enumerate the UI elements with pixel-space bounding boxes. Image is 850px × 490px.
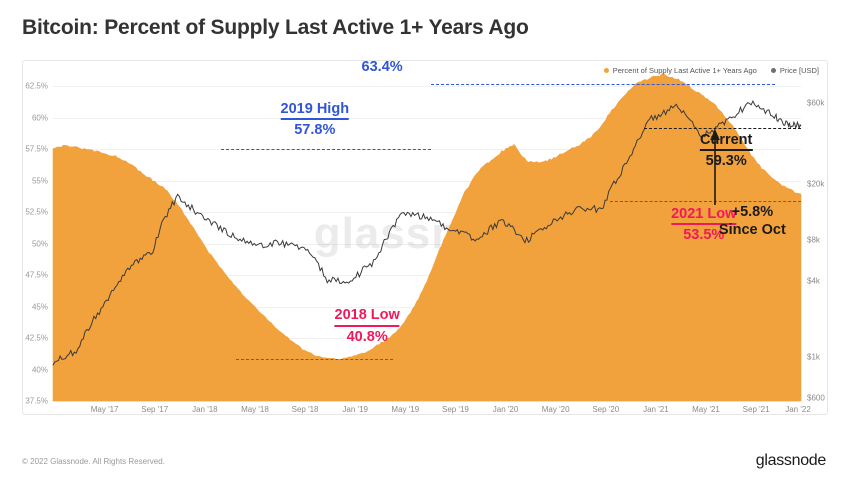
legend-item-supply[interactable]: Percent of Supply Last Active 1+ Years A… xyxy=(604,66,757,75)
y-tick-label: 37.5% xyxy=(25,397,48,406)
chart-page: Bitcoin: Percent of Supply Last Active 1… xyxy=(0,0,850,490)
x-tick-label: May '21 xyxy=(692,405,720,414)
chart-panel: Percent of Supply Last Active 1+ Years A… xyxy=(22,60,828,415)
y2-tick-label: $1k xyxy=(807,352,820,361)
plot-area: 62.5% 60% 57.5% 55% 52.5% 50% 47.5% 45% … xyxy=(53,86,801,401)
x-tick-label: Jan '19 xyxy=(342,405,368,414)
annotation-2019-high: 2019 High 57.8% xyxy=(281,101,350,138)
legend-item-price[interactable]: Price [USD] xyxy=(771,66,819,75)
annotation-line-current xyxy=(644,128,801,129)
annotation-change-arrow-icon xyxy=(708,129,722,201)
annotation-line-2018-low xyxy=(236,359,393,360)
annotation-change-value: Since Oct xyxy=(719,223,786,238)
x-tick-label: Jan '22 xyxy=(785,405,811,414)
footer-logo: glassnode xyxy=(756,452,826,470)
y-tick-label: 47.5% xyxy=(25,271,48,280)
annotation-2018-low: 2018 Low 40.8% xyxy=(335,307,400,344)
x-tick-label: May '17 xyxy=(91,405,119,414)
x-tick-label: Jan '18 xyxy=(192,405,218,414)
y2-tick-label: $8k xyxy=(807,236,820,245)
y-tick-label: 40% xyxy=(32,365,48,374)
annotation-2019-high-value: 57.8% xyxy=(281,123,350,138)
annotation-line-2020-high xyxy=(431,84,775,85)
annotation-line-2021-low xyxy=(610,201,801,202)
x-tick-label: Sep '21 xyxy=(743,405,770,414)
y-tick-label: 62.5% xyxy=(25,82,48,91)
annotation-2020-high-value: 63.4% xyxy=(348,60,417,75)
x-tick-label: May '20 xyxy=(542,405,570,414)
legend-label-price: Price [USD] xyxy=(780,66,819,75)
y2-tick-label: $600 xyxy=(807,393,825,402)
x-tick-label: Sep '19 xyxy=(442,405,469,414)
x-tick-label: Sep '20 xyxy=(592,405,619,414)
x-tick-label: Sep '17 xyxy=(141,405,168,414)
annotation-line-2019-high xyxy=(221,149,430,150)
series-canvas xyxy=(53,86,801,401)
footer-copyright: © 2022 Glassnode. All Rights Reserved. xyxy=(22,457,165,466)
annotation-2020-high: 2020 High 63.4% xyxy=(348,60,417,75)
legend-marker-price-icon xyxy=(771,68,776,73)
legend-marker-supply-icon xyxy=(604,68,609,73)
chart-legend: Percent of Supply Last Active 1+ Years A… xyxy=(604,66,819,75)
x-tick-label: Jan '21 xyxy=(643,405,669,414)
annotation-change: +5.8% Since Oct xyxy=(719,205,786,238)
y-tick-label: 50% xyxy=(32,239,48,248)
annotation-2019-high-title: 2019 High xyxy=(281,102,350,120)
x-tick-label: Sep '18 xyxy=(292,405,319,414)
x-tick-label: May '18 xyxy=(241,405,269,414)
x-tick-label: Jan '20 xyxy=(493,405,519,414)
y-tick-label: 42.5% xyxy=(25,334,48,343)
y-tick-label: 45% xyxy=(32,302,48,311)
annotation-2018-low-title: 2018 Low xyxy=(335,308,400,326)
y-tick-label: 60% xyxy=(32,113,48,122)
annotation-2018-low-value: 40.8% xyxy=(335,330,400,345)
annotation-change-title: +5.8% xyxy=(719,205,786,220)
page-title: Bitcoin: Percent of Supply Last Active 1… xyxy=(22,16,529,40)
y2-tick-label: $20k xyxy=(807,179,824,188)
y2-tick-label: $4k xyxy=(807,277,820,286)
y2-tick-label: $60k xyxy=(807,99,824,108)
legend-label-supply: Percent of Supply Last Active 1+ Years A… xyxy=(613,66,757,75)
y-tick-label: 57.5% xyxy=(25,145,48,154)
x-tick-label: May '19 xyxy=(391,405,419,414)
y-tick-label: 55% xyxy=(32,176,48,185)
y-tick-label: 52.5% xyxy=(25,208,48,217)
